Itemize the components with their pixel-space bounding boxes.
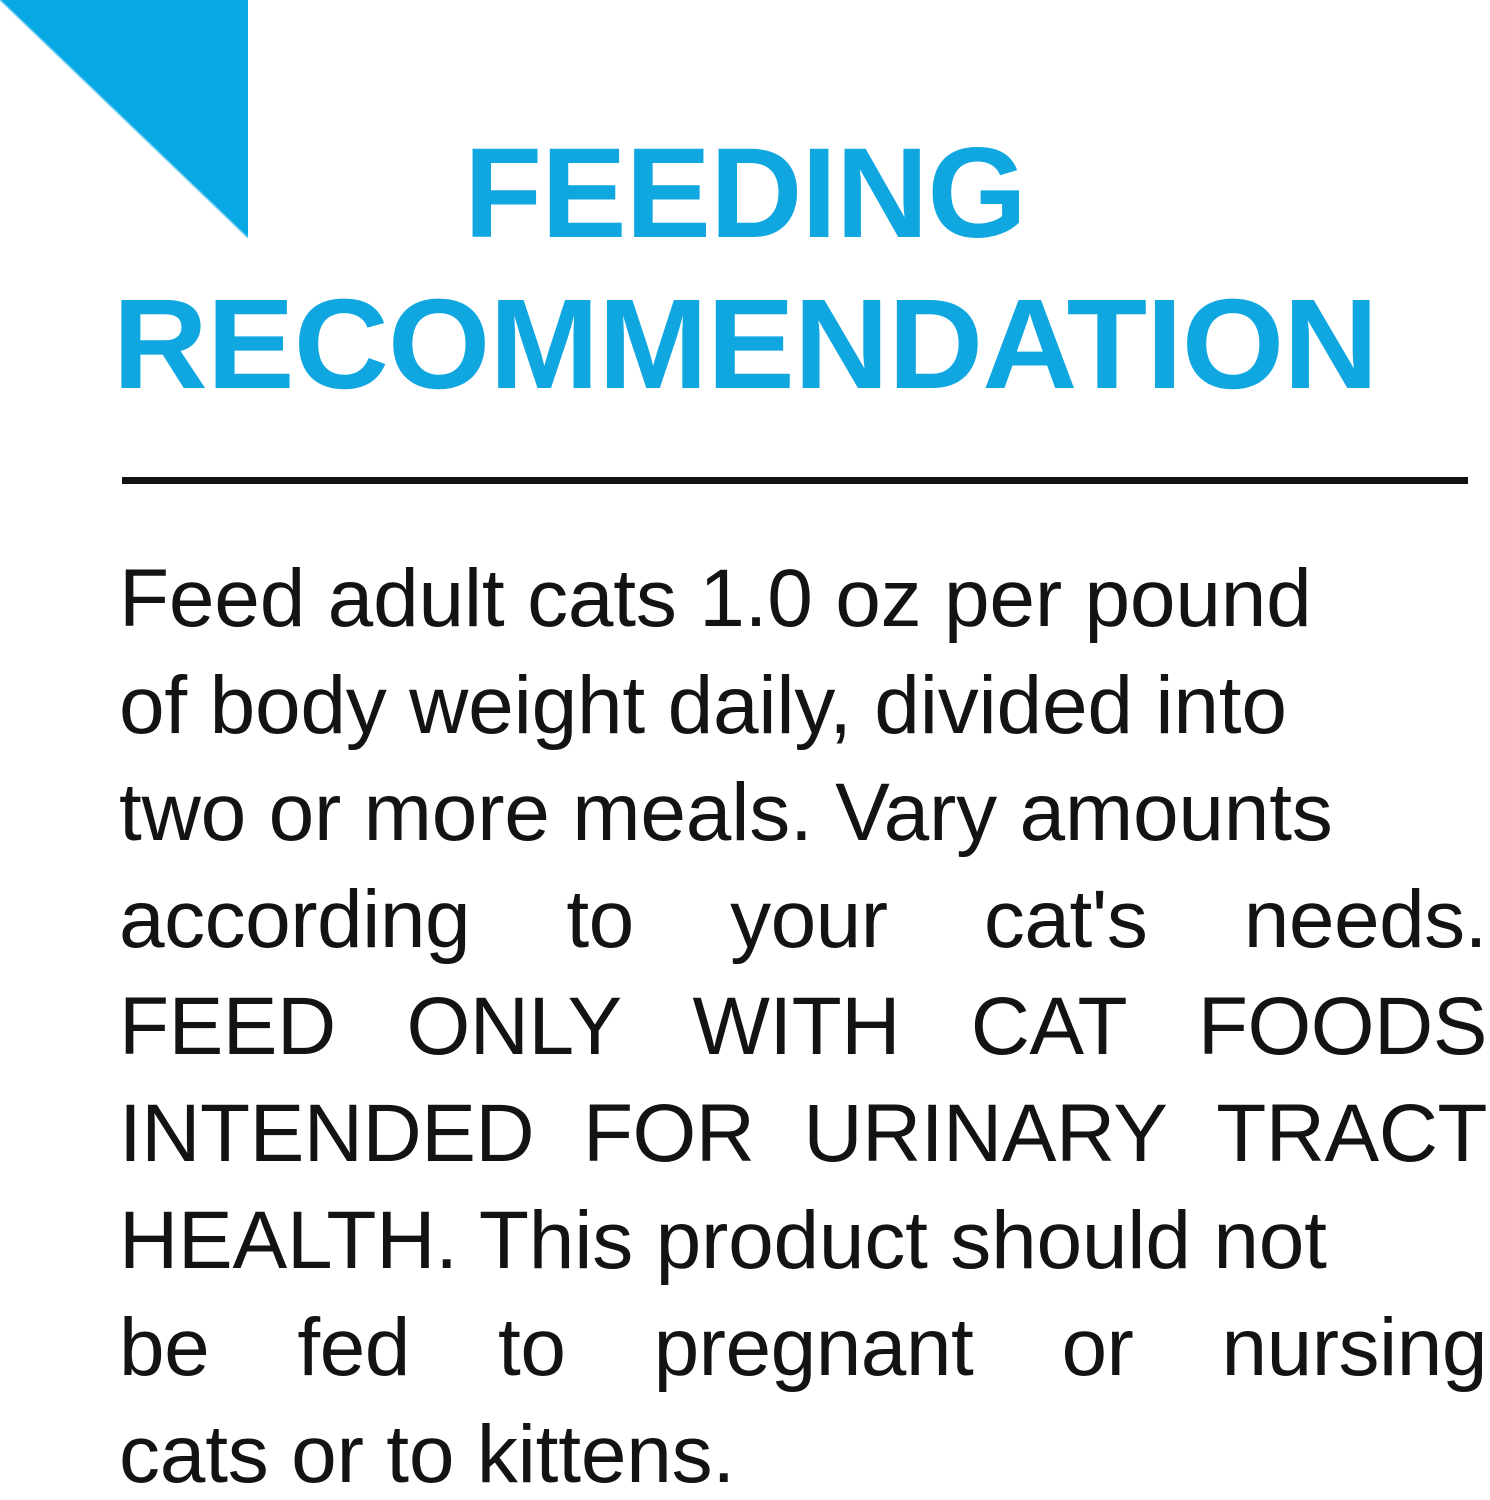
body-line-3: two or more meals. Vary amounts	[119, 759, 1487, 866]
body-line-9: cats or to kittens.	[119, 1401, 1487, 1500]
body-line-8: be fed to pregnant or nursing	[119, 1294, 1487, 1401]
body-line-4-word-2: to	[566, 866, 633, 973]
page-title-line-2: RECOMMENDATION	[0, 269, 1490, 420]
body-line-4-word-3: your	[730, 866, 888, 973]
body-line-5-word-4: CAT	[971, 973, 1127, 1080]
body-line-7: HEALTH. This product should not	[119, 1187, 1487, 1294]
body-line-5-word-2: ONLY	[406, 973, 621, 1080]
body-line-8-word-2: fed	[297, 1294, 410, 1401]
page-title: FEEDING RECOMMENDATION	[0, 118, 1490, 420]
body-line-8-word-3: to	[498, 1294, 565, 1401]
body-line-5: FEED ONLY WITH CAT FOODS	[119, 973, 1487, 1080]
body-line-5-word-1: FEED	[119, 973, 336, 1080]
title-divider	[122, 477, 1468, 484]
feeding-recommendation-label: FEEDING RECOMMENDATION Feed adult cats 1…	[0, 0, 1490, 1500]
body-line-8-word-1: be	[119, 1294, 209, 1401]
body-line-4-word-4: cat's	[984, 866, 1148, 973]
feeding-instructions-text: Feed adult cats 1.0 oz per pound of body…	[119, 545, 1487, 1500]
body-line-1: Feed adult cats 1.0 oz per pound	[119, 545, 1487, 652]
body-line-6-word-2: FOR	[583, 1080, 755, 1187]
body-line-4-word-1: according	[119, 866, 470, 973]
body-line-5-word-3: WITH	[692, 973, 899, 1080]
body-line-6: INTENDED FOR URINARY TRACT	[119, 1080, 1487, 1187]
body-line-2: of body weight daily, divided into	[119, 652, 1487, 759]
body-line-6-word-1: INTENDED	[119, 1080, 534, 1187]
body-line-4-word-5: needs.	[1244, 866, 1487, 973]
page-title-line-1: FEEDING	[0, 118, 1490, 269]
body-line-8-word-6: nursing	[1222, 1294, 1487, 1401]
body-line-4: according to your cat's needs.	[119, 866, 1487, 973]
body-line-6-word-3: URINARY	[803, 1080, 1167, 1187]
body-line-6-word-4: TRACT	[1216, 1080, 1487, 1187]
body-line-8-word-5: or	[1061, 1294, 1133, 1401]
body-line-5-word-5: FOODS	[1198, 973, 1487, 1080]
body-line-8-word-4: pregnant	[654, 1294, 974, 1401]
